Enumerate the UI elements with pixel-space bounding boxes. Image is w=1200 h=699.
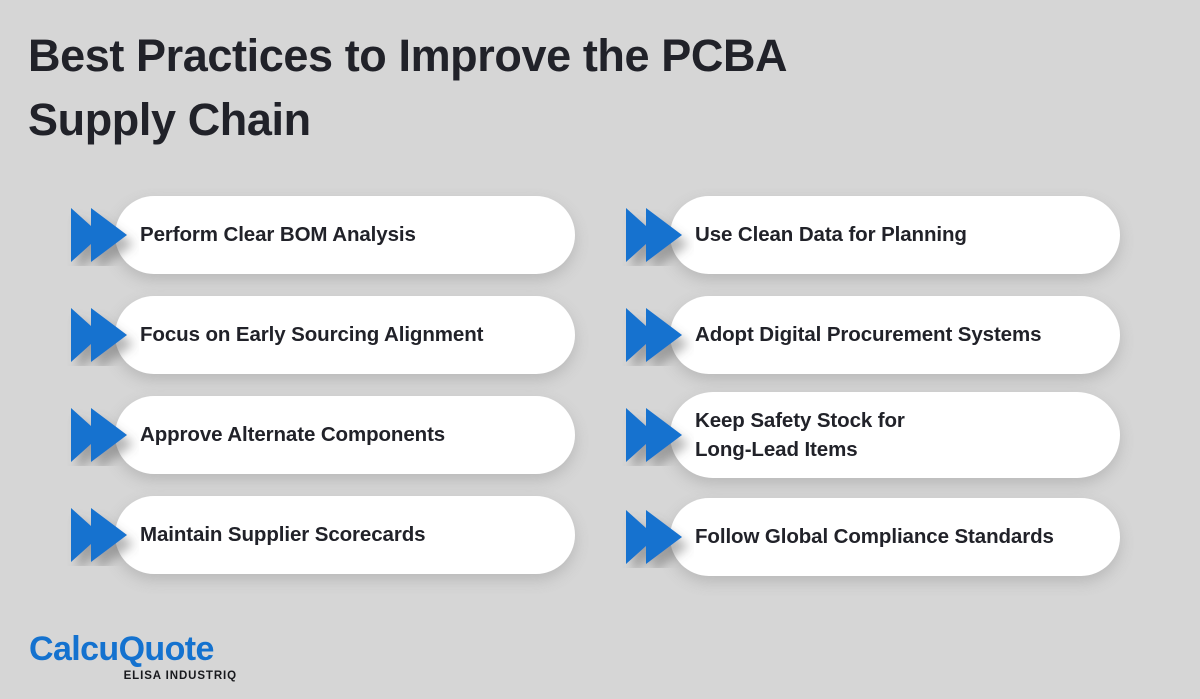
practice-card-label: Keep Safety Stock for Long-Lead Items <box>695 406 905 464</box>
double-arrow-icon <box>622 204 694 266</box>
practice-card-2[interactable]: Focus on Early Sourcing Alignment <box>115 296 575 374</box>
practice-card-4[interactable]: Maintain Supplier Scorecards <box>115 496 575 574</box>
practice-card-label: Follow Global Compliance Standards <box>695 522 1054 551</box>
calcuquote-logo: CalcuQuote ELISA INDUSTRIQ <box>29 632 289 683</box>
practice-card-label: Use Clean Data for Planning <box>695 220 967 249</box>
practice-card-label: Adopt Digital Procurement Systems <box>695 320 1041 349</box>
card-slot: Keep Safety Stock for Long-Lead Items <box>670 392 1120 478</box>
card-slot: Use Clean Data for Planning <box>670 196 1120 274</box>
double-arrow-icon <box>622 304 694 366</box>
card-slot: Perform Clear BOM Analysis <box>115 196 575 274</box>
card-slot: Follow Global Compliance Standards <box>670 498 1120 576</box>
practice-card-label: Maintain Supplier Scorecards <box>140 520 425 549</box>
practice-card-label: Approve Alternate Components <box>140 420 445 449</box>
page-title-line-1: Best Practices to Improve the PCBA <box>28 24 1038 88</box>
practice-card-1[interactable]: Perform Clear BOM Analysis <box>115 196 575 274</box>
page-title: Best Practices to Improve the PCBA Suppl… <box>28 24 1038 152</box>
logo-tagline: ELISA INDUSTRIQ <box>29 671 237 683</box>
practice-card-label: Focus on Early Sourcing Alignment <box>140 320 483 349</box>
card-slot: Approve Alternate Components <box>115 396 575 474</box>
logo-wordmark: CalcuQuote <box>29 632 289 666</box>
card-slot: Adopt Digital Procurement Systems <box>670 296 1120 374</box>
double-arrow-icon <box>67 504 139 566</box>
page-title-line-2: Supply Chain <box>28 88 1038 152</box>
double-arrow-icon <box>67 204 139 266</box>
practice-card-7[interactable]: Keep Safety Stock for Long-Lead Items <box>670 392 1120 478</box>
card-slot: Maintain Supplier Scorecards <box>115 496 575 574</box>
card-slot: Focus on Early Sourcing Alignment <box>115 296 575 374</box>
double-arrow-icon <box>622 506 694 568</box>
double-arrow-icon <box>622 404 694 466</box>
double-arrow-icon <box>67 304 139 366</box>
practice-card-label-line-2: Long-Lead Items <box>695 435 905 464</box>
practice-card-label-line-1: Keep Safety Stock for <box>695 409 905 432</box>
infographic-poster: Best Practices to Improve the PCBA Suppl… <box>0 0 1200 699</box>
practice-card-label: Perform Clear BOM Analysis <box>140 220 416 249</box>
practice-card-6[interactable]: Adopt Digital Procurement Systems <box>670 296 1120 374</box>
practice-card-5[interactable]: Use Clean Data for Planning <box>670 196 1120 274</box>
double-arrow-icon <box>67 404 139 466</box>
practice-card-3[interactable]: Approve Alternate Components <box>115 396 575 474</box>
practice-card-8[interactable]: Follow Global Compliance Standards <box>670 498 1120 576</box>
